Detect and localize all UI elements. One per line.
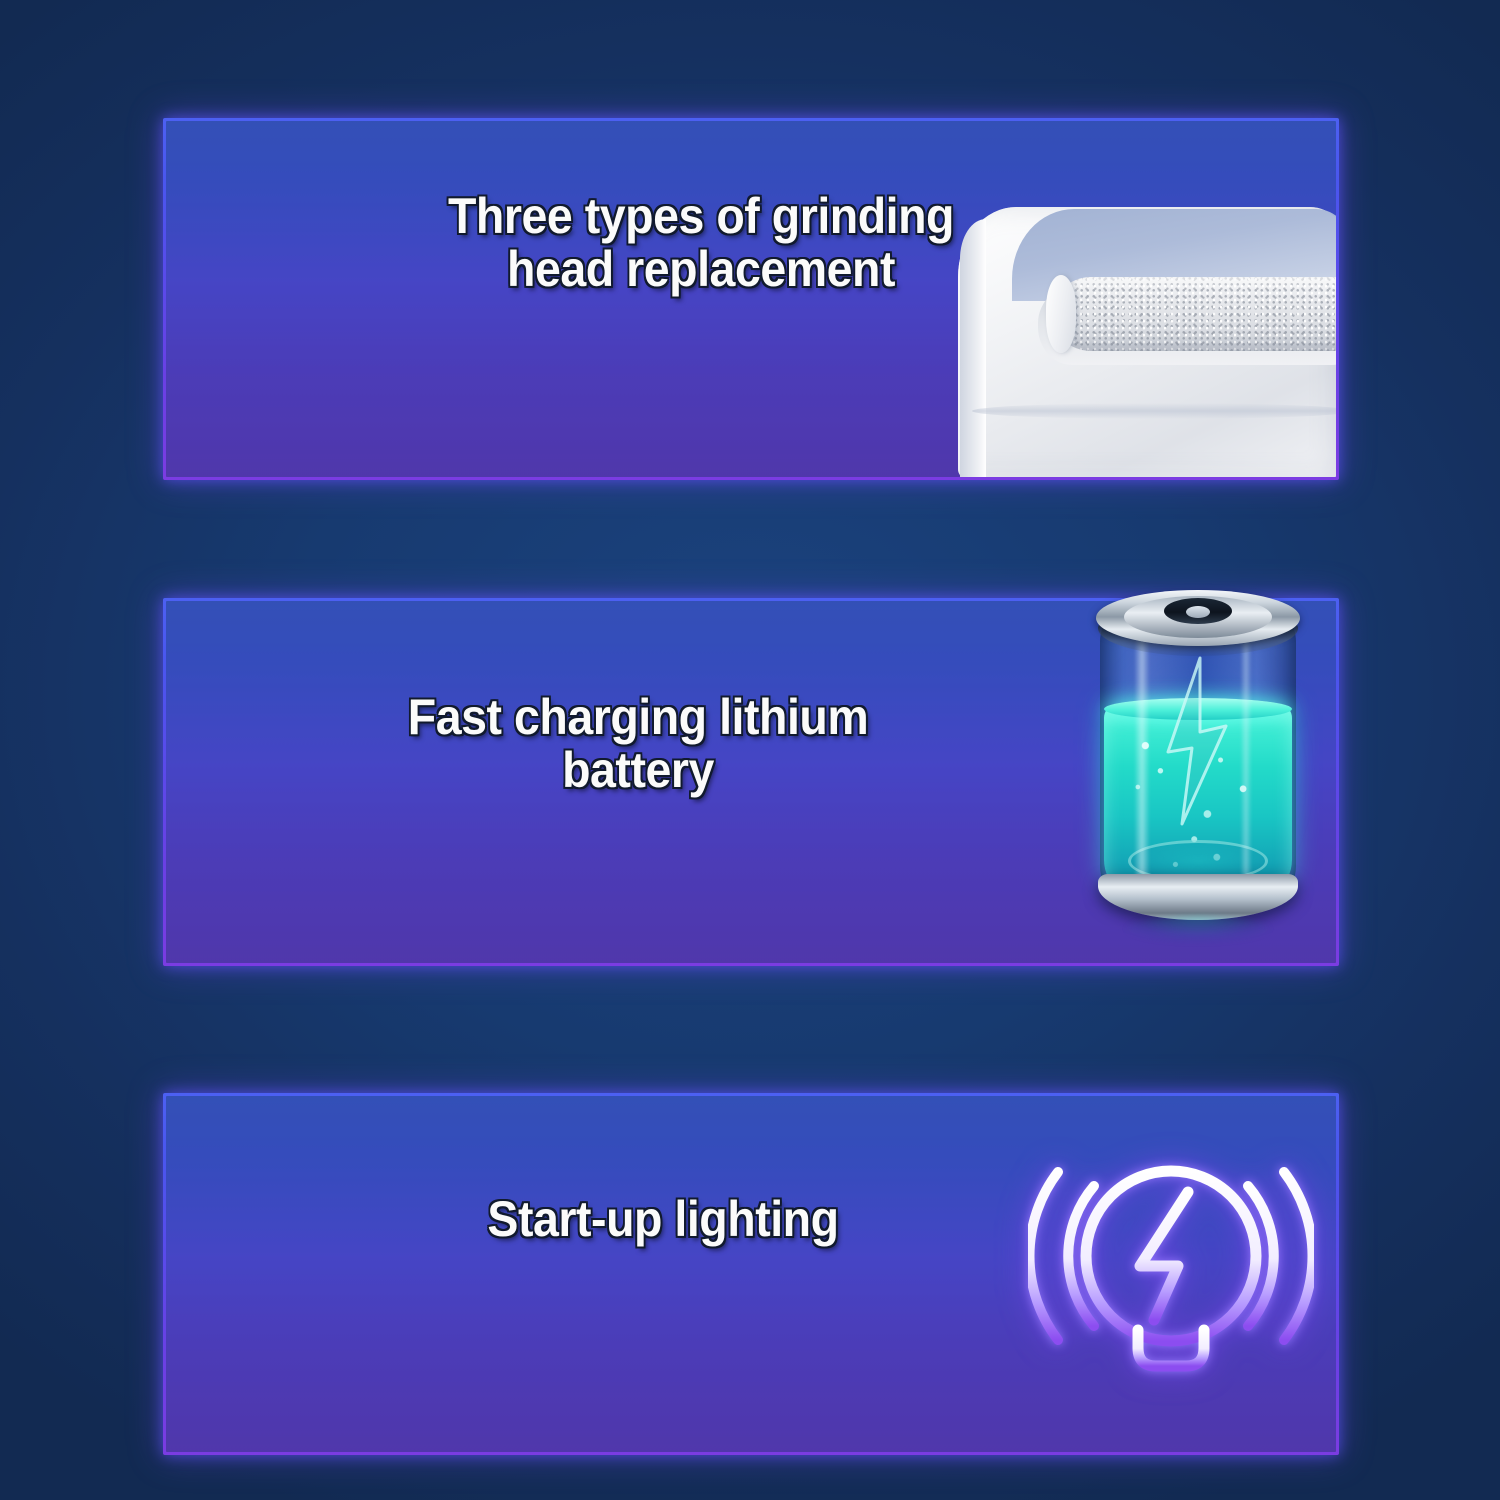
card-content-area (166, 1096, 1336, 1452)
card-headline-grinding: Three types of grinding head replacement (431, 190, 970, 296)
battery-terminal-highlight (1186, 606, 1210, 618)
roller-end-cap (1046, 275, 1076, 353)
neon-lightbulb-icon (1028, 1144, 1314, 1412)
feature-card-grinding[interactable]: Three types of grinding head replacement (163, 118, 1339, 480)
glow-arc-right-outer (1284, 1172, 1313, 1340)
lithium-battery-icon (1082, 582, 1314, 932)
feature-card-lighting[interactable]: Start-up lighting (163, 1093, 1339, 1455)
battery-glass-highlight-right (1240, 626, 1252, 884)
bulb-globe (1086, 1171, 1256, 1341)
lightning-bolt-icon (1156, 656, 1234, 826)
battery-glass-highlight-left (1134, 626, 1150, 884)
card-headline-lighting: Start-up lighting (468, 1193, 859, 1246)
bolt-icon (1140, 1192, 1188, 1320)
battery-bottom-cap (1098, 874, 1298, 920)
device-seam-line (972, 403, 1336, 419)
lightbulb-svg (1028, 1144, 1314, 1412)
glow-arc-left-outer (1029, 1172, 1058, 1340)
card-content-area (166, 121, 1336, 477)
card-headline-battery: Fast charging lithium battery (340, 691, 935, 797)
battery-reflection (1126, 916, 1270, 942)
grinding-roller-head (1052, 277, 1336, 351)
page-background: Three types of grinding head replacement… (0, 0, 1500, 1500)
callus-remover-device-photo (920, 179, 1336, 477)
